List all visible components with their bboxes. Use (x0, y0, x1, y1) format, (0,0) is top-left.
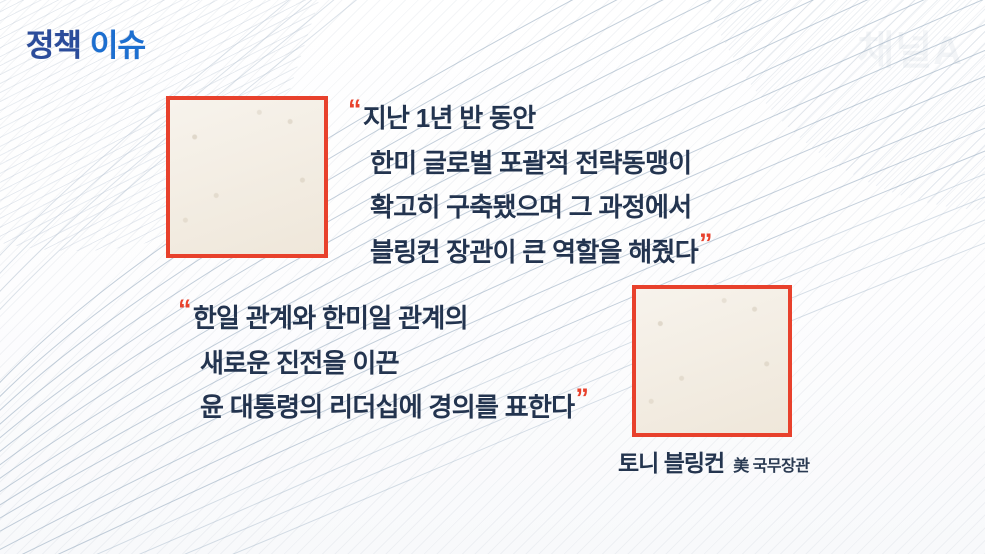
quote-open-mark: “ (348, 94, 361, 124)
caption-blinken: 토니 블링컨 美 국무장관 (618, 444, 810, 478)
quote-line-text: 블링컨 장관이 큰 역할을 해줬다 (370, 237, 698, 267)
quote-line: 한미 글로벌 포괄적 전략동맹이 (348, 141, 712, 186)
quote-line: 새로운 진전을 이끈 (178, 341, 588, 386)
quote-line: 윤 대통령의 리더십에 경의를 표한다” (178, 385, 588, 430)
portrait-backdrop (170, 100, 324, 254)
quote-line-text: 지난 1년 반 동안 (363, 103, 536, 133)
channel-watermark: 채널A (858, 18, 964, 76)
photo-yoon (166, 96, 328, 258)
quote-line: “지난 1년 반 동안 (348, 96, 712, 141)
quote-line: 확고히 구축됐으며 그 과정에서 (348, 185, 712, 230)
program-logo: 정책 이슈 (26, 30, 145, 61)
quote-line-text: 한일 관계와 한미일 관계의 (193, 303, 468, 333)
program-logo-second: 이슈 (90, 30, 145, 61)
quote-line-text: 윤 대통령의 리더십에 경의를 표한다 (200, 392, 574, 422)
photo-blinken (632, 285, 792, 437)
quote-block-yoon: “지난 1년 반 동안 한미 글로벌 포괄적 전략동맹이 확고히 구축됐으며 그… (348, 96, 712, 275)
broadcast-graphic: 채널A 정책 이슈 (0, 0, 985, 554)
portrait-blinken (636, 289, 788, 433)
portrait-backdrop (636, 289, 788, 433)
portrait-yoon (170, 100, 324, 254)
caption-person-name: 토니 블링컨 (618, 444, 724, 478)
quote-block-blinken: “한일 관계와 한미일 관계의 새로운 진전을 이끈 윤 대통령의 리더십에 경… (178, 296, 588, 430)
quote-close-mark: ” (699, 228, 712, 258)
caption-person-title: 美 국무장관 (733, 452, 809, 476)
quote-line: 블링컨 장관이 큰 역할을 해줬다” (348, 230, 712, 275)
quote-line: “한일 관계와 한미일 관계의 (178, 296, 588, 341)
quote-close-mark: ” (575, 383, 588, 413)
quote-open-mark: “ (178, 294, 191, 324)
program-logo-first: 정책 (26, 30, 81, 61)
